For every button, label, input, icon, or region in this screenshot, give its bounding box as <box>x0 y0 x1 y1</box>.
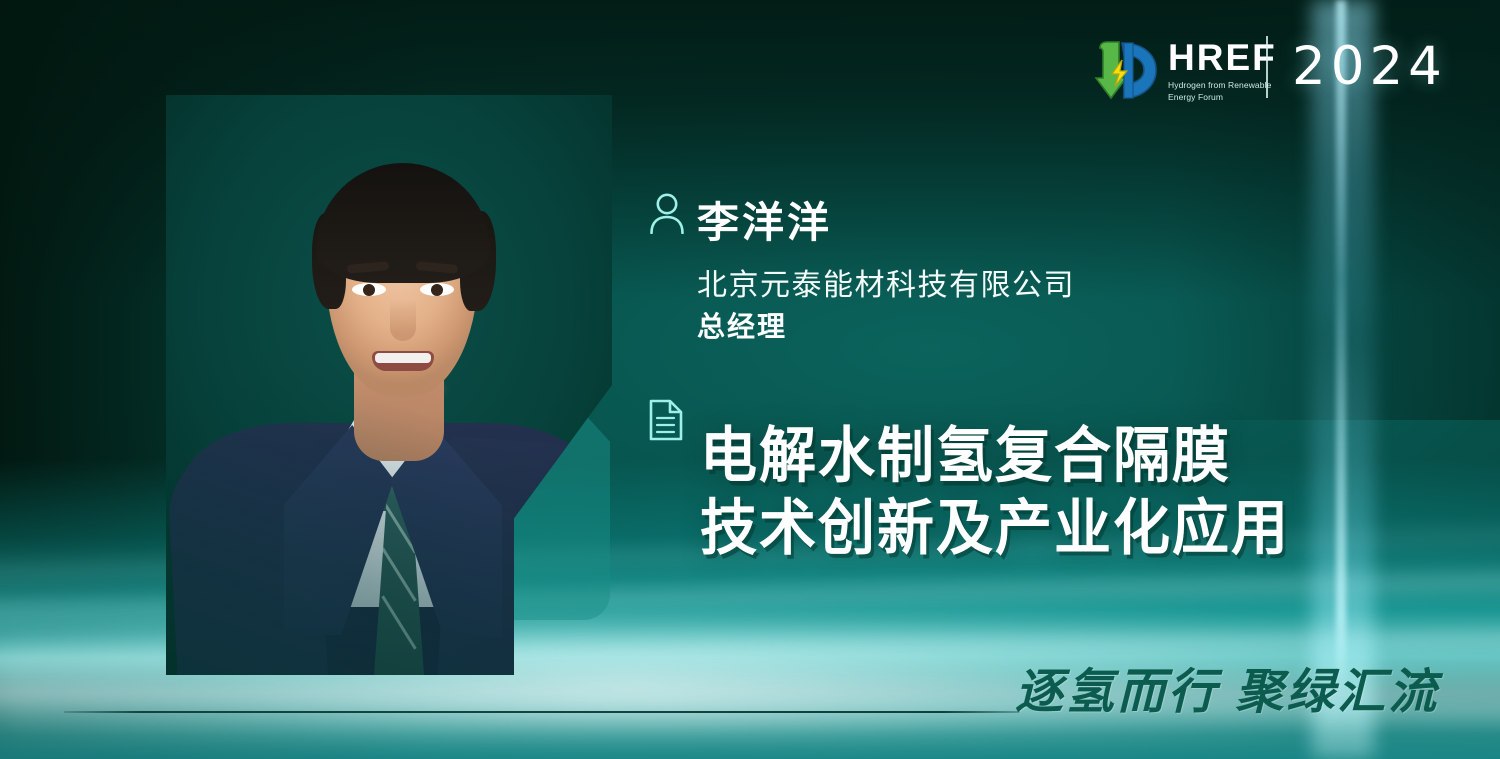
tie-stripe <box>381 595 416 649</box>
speaker-role: 总经理 <box>697 308 787 346</box>
talk-title: 电解水制氢复合隔膜 技术创新及产业化应用 <box>700 420 1290 564</box>
portrait-chin-shadow <box>362 377 444 401</box>
conference-speaker-card: HREF Hydrogen from Renewable Energy Foru… <box>0 0 1500 759</box>
portrait-eye-left <box>352 283 386 296</box>
portrait-mouth <box>372 351 434 371</box>
portrait-composition <box>110 100 630 700</box>
href-hydrogen-logo-icon <box>1092 40 1160 102</box>
event-year: 2024 <box>1292 38 1447 96</box>
vertical-light-beam-core <box>1336 0 1346 700</box>
portrait-teeth <box>375 353 431 363</box>
footer-divider-line <box>64 711 1020 713</box>
person-icon <box>648 192 686 234</box>
portrait-iris <box>363 284 375 296</box>
href-tagline-line2: Energy Forum <box>1168 92 1277 103</box>
href-wordmark: HREF <box>1168 39 1277 76</box>
href-tagline: Hydrogen from Renewable Energy Forum <box>1168 80 1277 102</box>
portrait-iris <box>431 284 443 296</box>
href-logo-block[interactable]: HREF Hydrogen from Renewable Energy Foru… <box>1092 36 1277 106</box>
header-divider <box>1266 36 1268 98</box>
portrait-eye-right <box>420 283 454 296</box>
speaker-organization: 北京元泰能材科技有限公司 <box>697 266 1075 306</box>
href-tagline-line1: Hydrogen from Renewable <box>1168 80 1277 91</box>
href-logo-words: HREF Hydrogen from Renewable Energy Foru… <box>1168 39 1277 102</box>
portrait-nose <box>390 299 416 341</box>
document-icon <box>648 398 684 442</box>
event-slogan: 逐氢而行 聚绿汇流 <box>1015 665 1439 721</box>
speaker-name: 李洋洋 <box>697 197 832 249</box>
tie-stripe <box>381 547 416 601</box>
